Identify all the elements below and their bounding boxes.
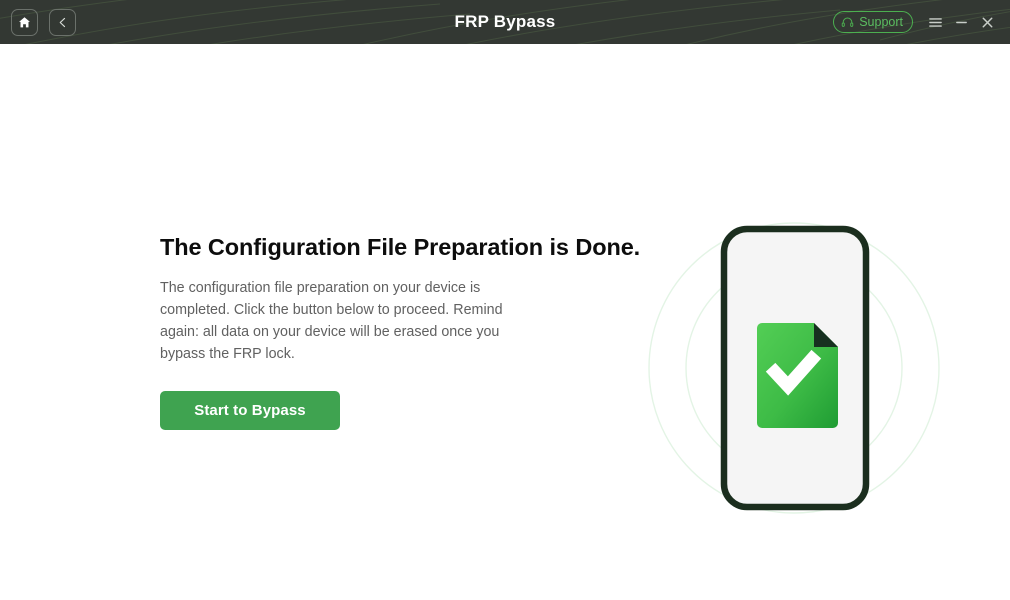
main-content: The Configuration File Preparation is Do… — [0, 44, 1010, 600]
close-button[interactable] — [974, 0, 1000, 44]
title-bar: FRP Bypass Support — [0, 0, 1010, 44]
support-button[interactable]: Support — [833, 11, 913, 33]
message-block: The Configuration File Preparation is Do… — [160, 234, 580, 430]
hamburger-menu-icon — [928, 15, 943, 30]
start-to-bypass-button[interactable]: Start to Bypass — [160, 391, 340, 430]
menu-button[interactable] — [922, 0, 948, 44]
minimize-button[interactable] — [948, 0, 974, 44]
titlebar-nav — [11, 9, 76, 36]
close-icon — [980, 15, 995, 30]
support-label: Support — [859, 15, 903, 29]
minimize-icon — [954, 15, 969, 30]
page-title: The Configuration File Preparation is Do… — [160, 234, 580, 261]
home-icon — [18, 16, 31, 29]
document-check-icon — [757, 323, 838, 428]
titlebar-controls: Support — [833, 0, 1000, 44]
frp-bypass-window: FRP Bypass Support — [0, 0, 1010, 600]
page-description: The configuration file preparation on yo… — [160, 277, 505, 365]
back-button[interactable] — [49, 9, 76, 36]
headset-icon — [841, 16, 854, 29]
chevron-left-icon — [56, 16, 69, 29]
phone-illustration — [620, 184, 980, 554]
illustration-svg — [620, 184, 980, 554]
home-button[interactable] — [11, 9, 38, 36]
